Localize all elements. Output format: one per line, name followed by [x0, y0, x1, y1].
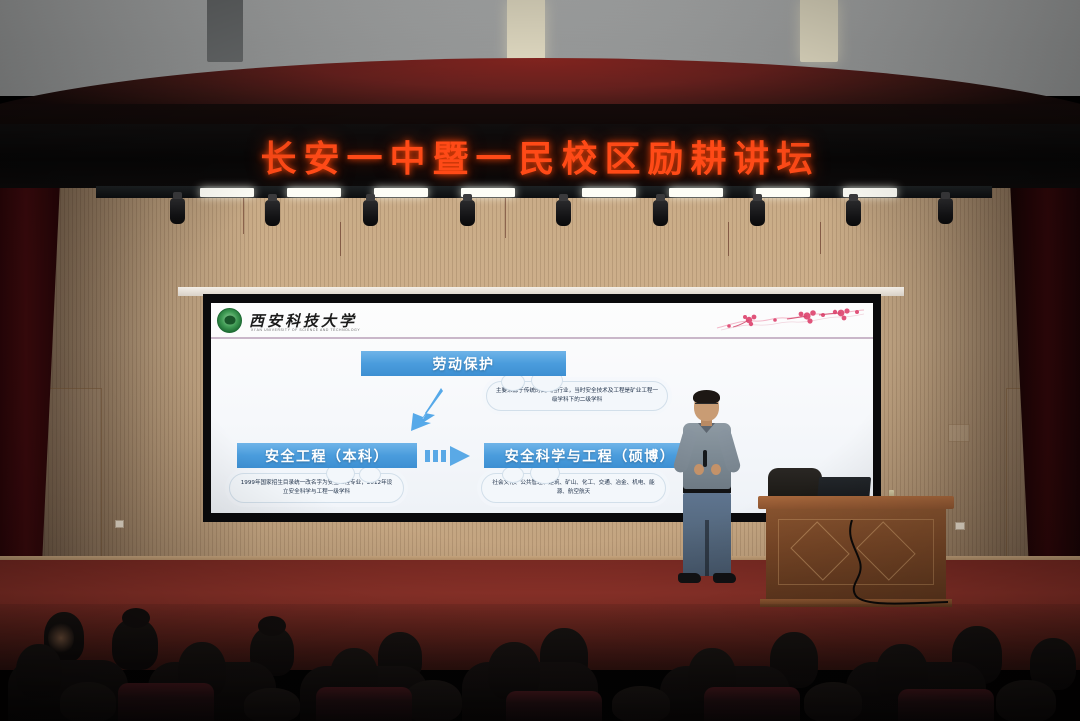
university-emblem-icon [217, 308, 242, 333]
box-safety-science-postgrad: 安全科学与工程（硕博） [484, 443, 696, 468]
light-wire-3 [505, 198, 506, 238]
auditorium-seat [704, 687, 800, 721]
university-name-en: XI'AN UNIVERSITY OF SCIENCE AND TECHNOLO… [251, 328, 360, 332]
box-labor-protection: 劳动保护 [361, 351, 566, 376]
speaker-shoe-right [713, 573, 736, 583]
cloud-fields-note: 社会文化、公共管理、建筑、矿山、化工、交通、冶金、机电、能源、航空航天 [481, 473, 666, 503]
cloud-origin-note: 主要来源于传统的高风险行业，当时安全技术及工程是矿业工程一级学科下的二级学科 [486, 381, 668, 411]
strip-light-7 [756, 188, 810, 197]
strip-light-5 [582, 188, 636, 197]
light-wire-1 [243, 198, 244, 234]
auditorium-scene: 长安一中暨一民校区励耕讲坛 西安科技大学 XI'AN UNIVERSITY OF… [0, 0, 1080, 721]
speaker-shoe-left [678, 573, 701, 583]
wall-switch-left[interactable] [115, 520, 124, 528]
speaker-hair [693, 390, 720, 404]
arrow-down-left-icon [405, 385, 451, 435]
audience-area [0, 604, 1080, 721]
strip-light-1 [200, 188, 254, 197]
audience-head [60, 682, 116, 721]
wall-outlet-right[interactable] [948, 424, 970, 442]
light-wire-4 [728, 222, 729, 256]
led-banner: 长安一中暨一民校区励耕讲坛 [0, 124, 1080, 188]
spotlight-7 [750, 200, 765, 226]
speaker-person [672, 392, 742, 597]
speaker-leg-gap [705, 520, 709, 576]
speaker-hand-right [711, 464, 721, 475]
slide-header: 西安科技大学 XI'AN UNIVERSITY OF SCIENCE AND T… [211, 303, 873, 339]
plum-blossom-decoration-icon [715, 307, 865, 333]
audience-head [404, 680, 462, 721]
ceiling-panel-1 [207, 0, 243, 62]
handheld-microphone-icon [703, 450, 707, 467]
audience-hair-bun [258, 616, 286, 636]
arrow-right-icon [425, 446, 477, 466]
spotlight-3 [363, 200, 378, 226]
spotlight-8 [846, 200, 861, 226]
glasses-icon [695, 403, 718, 408]
spotlight-5 [556, 200, 571, 226]
audience-head [804, 682, 862, 721]
cloud-history-note: 1999年国家招生目录统一改名字为安全工程专业，2012年设立安全科学与工程一级… [229, 473, 404, 503]
auditorium-seat [316, 687, 412, 721]
light-wire-5 [820, 222, 821, 254]
spotlight-6 [653, 200, 668, 226]
audience-head [996, 680, 1056, 721]
lectern-top [758, 496, 954, 509]
power-cable [760, 520, 950, 608]
auditorium-seat [898, 689, 994, 721]
speaker-hand-left [694, 464, 704, 475]
audience-head [16, 644, 62, 698]
strip-light-3 [374, 188, 428, 197]
auditorium-seat [506, 691, 602, 721]
wall-switch-right[interactable] [955, 522, 965, 530]
ceiling-panel-3 [800, 0, 838, 62]
box-safety-engineering-undergrad: 安全工程（本科） [237, 443, 417, 468]
spotlight-4 [460, 200, 475, 226]
spotlight-1 [170, 198, 185, 224]
audience-head [244, 688, 300, 721]
auditorium-seat [118, 683, 214, 721]
spotlight-2 [265, 200, 280, 226]
spotlight-9 [938, 198, 953, 224]
strip-light-2 [287, 188, 341, 197]
strip-light-6 [669, 188, 723, 197]
light-wire-2 [340, 222, 341, 256]
audience-hair-bun [122, 608, 150, 628]
ceiling-panel-2 [507, 0, 545, 62]
banner-title: 长安一中暨一民校区励耕讲坛 [260, 130, 819, 182]
audience-head [612, 686, 670, 721]
